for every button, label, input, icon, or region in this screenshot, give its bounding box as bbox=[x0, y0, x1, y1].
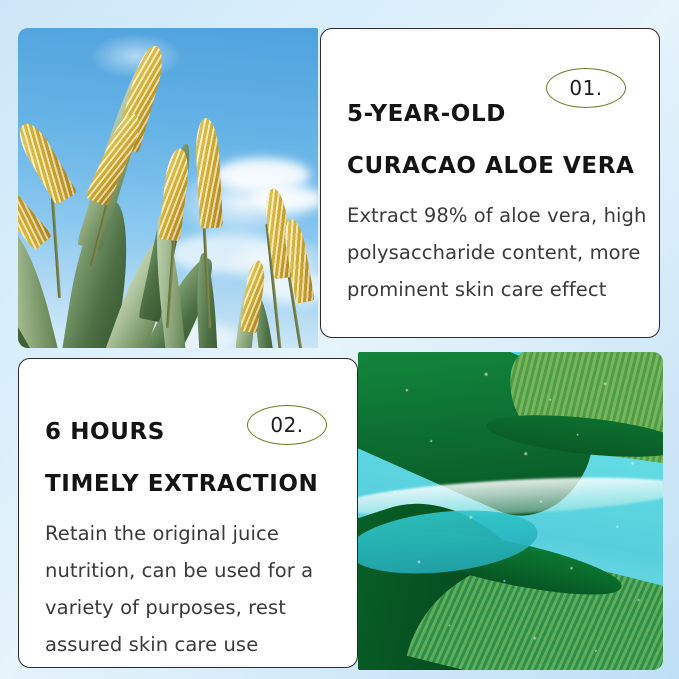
wet-aloe-leaf-photo bbox=[358, 352, 663, 670]
badge-02: 02. bbox=[247, 405, 327, 445]
aloe-flower-spike bbox=[158, 147, 191, 241]
aloe-flower-photo bbox=[18, 28, 318, 348]
feature-card-02: 6 HOURS TIMELY EXTRACTION Retain the ori… bbox=[18, 358, 358, 668]
product-feature-graphic: 5-YEAR-OLD CURACAO ALOE VERA Extract 98%… bbox=[0, 0, 679, 679]
aloe-flower-spike bbox=[18, 118, 77, 205]
card-01-body: Extract 98% of aloe vera, high polysacch… bbox=[347, 197, 647, 308]
card-02-body: Retain the original juice nutrition, can… bbox=[45, 515, 341, 663]
water-droplets bbox=[358, 352, 663, 670]
aloe-flower-spike bbox=[194, 118, 223, 229]
card-02-heading-line2: TIMELY EXTRACTION bbox=[45, 471, 335, 497]
card-01-heading-line2: CURACAO ALOE VERA bbox=[347, 153, 637, 179]
badge-01: 01. bbox=[546, 68, 626, 108]
